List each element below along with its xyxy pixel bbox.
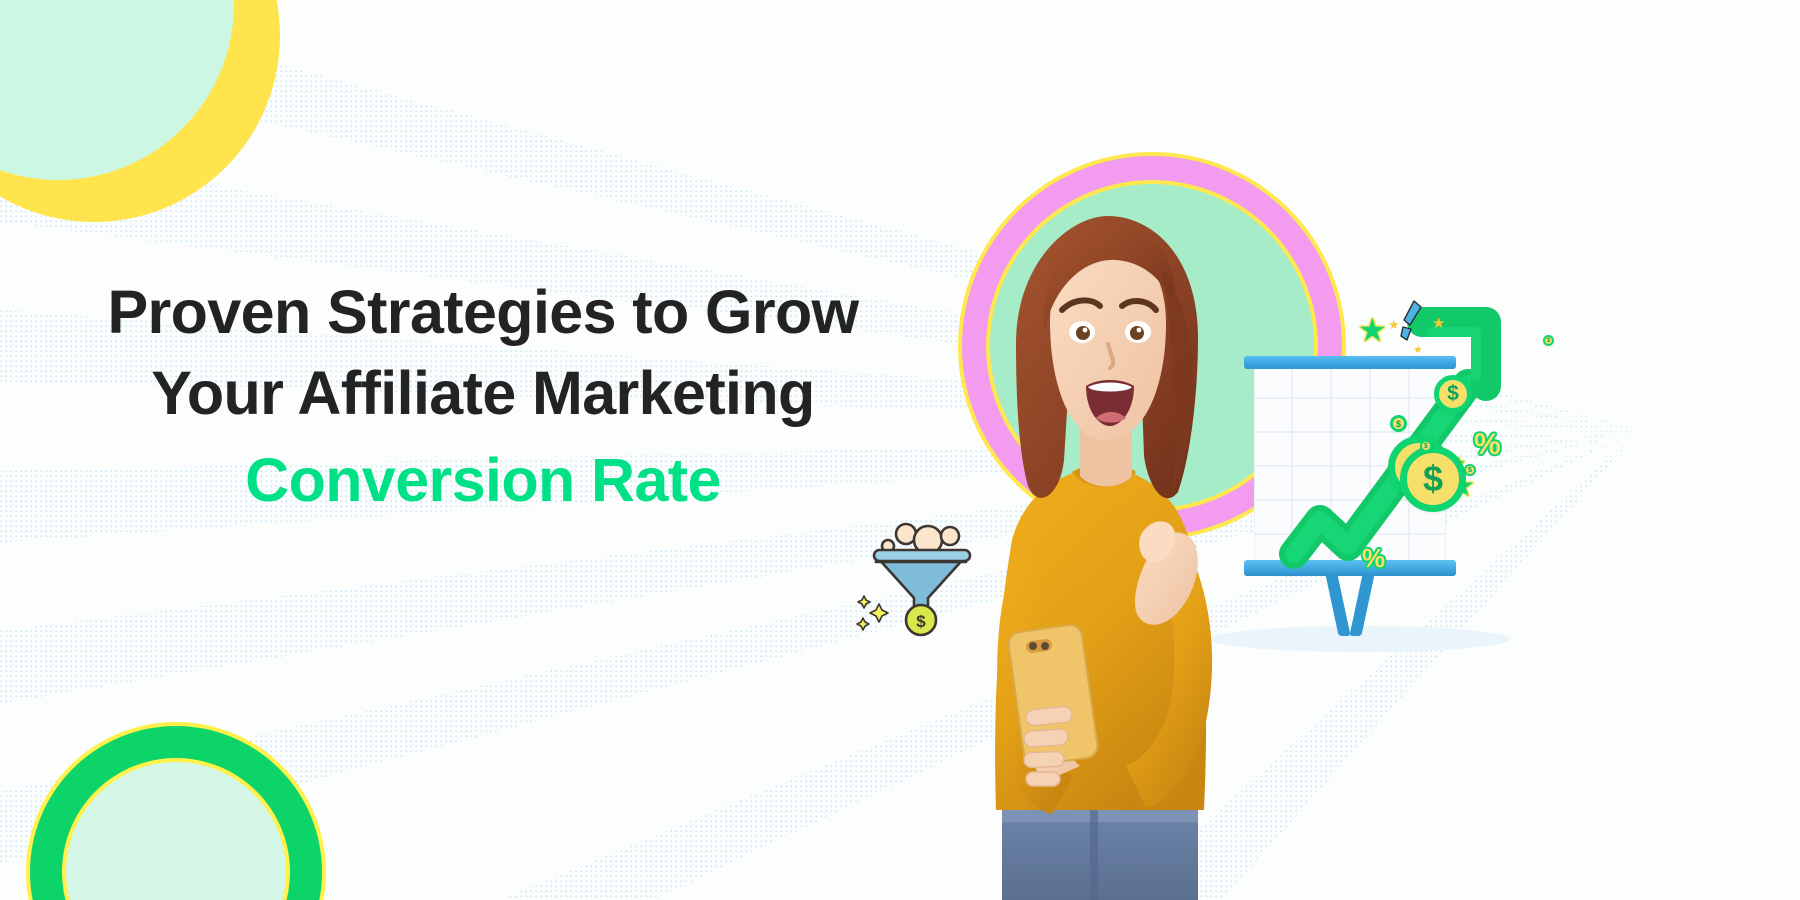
headline-block: Proven Strategies to Grow Your Affiliate… (78, 272, 888, 521)
green-star-icon-1: ★ (1358, 314, 1387, 346)
right-eye (1130, 326, 1144, 340)
dollar-coin-tiny-2: $ (1464, 464, 1476, 476)
dollar-coin-tiny-3: $ (1543, 335, 1554, 346)
headline-line-1: Proven Strategies to Grow (78, 272, 888, 353)
dollar-coin-tiny-1: $ (1420, 440, 1432, 452)
headline-line-3-accent: Conversion Rate (78, 440, 888, 521)
headline-line-2: Your Affiliate Marketing (78, 353, 888, 434)
yellow-star-icon-1: ★ (1388, 318, 1400, 331)
yellow-star-icon-3: ★ (1413, 345, 1423, 356)
left-eye (1076, 326, 1090, 340)
funnel-coin-dollar-symbol: $ (916, 612, 926, 631)
dollar-coin-large-2: $ (1400, 446, 1466, 512)
percent-icon-2: % (1362, 545, 1385, 571)
dollar-coin-medium: $ (1434, 375, 1472, 413)
excited-woman-with-phone (940, 210, 1300, 900)
yellow-star-icon-2: ★ (1432, 316, 1445, 331)
dollar-coin-small-1: $ (1390, 415, 1407, 432)
affiliate-marketing-banner: Proven Strategies to Grow Your Affiliate… (0, 0, 1800, 900)
percent-icon-1: % (1474, 430, 1501, 460)
sparkle-burst-icon (1400, 300, 1426, 342)
